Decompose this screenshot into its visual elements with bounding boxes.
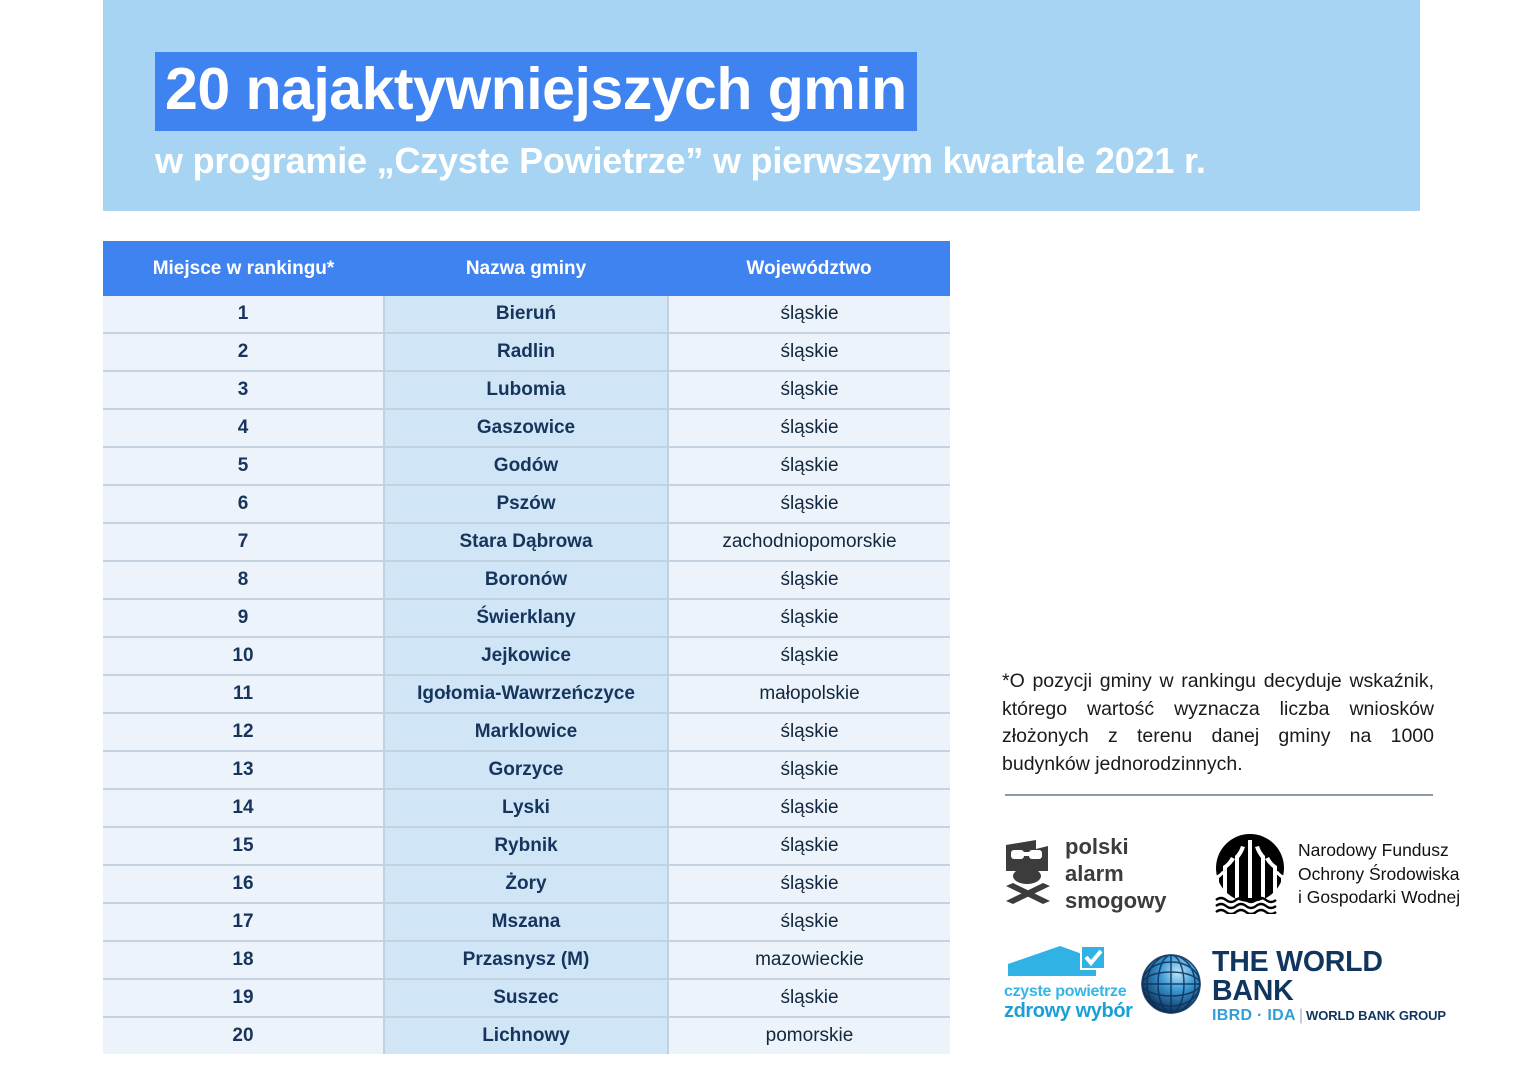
cell-name: Pszów	[384, 485, 668, 523]
polski-alarm-smogowy-label: polski alarm smogowy	[1065, 834, 1166, 914]
table-row: 4Gaszowiceśląskie	[103, 409, 950, 447]
cell-place: 7	[103, 523, 384, 561]
cell-voivodeship: śląskie	[668, 637, 950, 675]
cell-name: Jejkowice	[384, 637, 668, 675]
table-row: 13Gorzyceśląskie	[103, 751, 950, 789]
cell-voivodeship: śląskie	[668, 447, 950, 485]
cell-voivodeship: śląskie	[668, 979, 950, 1017]
cell-voivodeship: śląskie	[668, 296, 950, 333]
table-row: 12Marklowiceśląskie	[103, 713, 950, 751]
ranking-table: Miejsce w rankingu* Nazwa gminy Wojewódz…	[103, 241, 950, 1054]
nfosigw-emblem-icon	[1212, 830, 1288, 919]
czyste-powietrze-line-1: czyste powietrze	[1004, 983, 1133, 1000]
cell-place: 13	[103, 751, 384, 789]
cell-voivodeship: śląskie	[668, 371, 950, 409]
cell-voivodeship: śląskie	[668, 903, 950, 941]
smog-mask-icon	[1002, 839, 1054, 910]
world-bank-label: THE WORLD BANK IBRD · IDA|WORLD BANK GRO…	[1212, 948, 1446, 1024]
house-check-icon	[1004, 965, 1120, 982]
nfosigw-line-2: Ochrony Środowiska	[1298, 863, 1460, 886]
footnote-divider	[1005, 794, 1433, 796]
page-subtitle: w programie „Czyste Powietrze” w pierwsz…	[155, 141, 1420, 181]
table-row: 6Pszówśląskie	[103, 485, 950, 523]
column-header-place: Miejsce w rankingu*	[103, 241, 384, 296]
cell-place: 5	[103, 447, 384, 485]
cell-place: 18	[103, 941, 384, 979]
cell-voivodeship: śląskie	[668, 865, 950, 903]
table-row: 10Jejkowiceśląskie	[103, 637, 950, 675]
logo-nfosigw: Narodowy Fundusz Ochrony Środowiska i Go…	[1212, 830, 1460, 919]
cell-place: 1	[103, 296, 384, 333]
cell-voivodeship: śląskie	[668, 599, 950, 637]
nfosigw-line-3: i Gospodarki Wodnej	[1298, 886, 1460, 909]
cell-name: Rybnik	[384, 827, 668, 865]
cell-place: 12	[103, 713, 384, 751]
cell-name: Lubomia	[384, 371, 668, 409]
cell-name: Lichnowy	[384, 1017, 668, 1054]
cell-voivodeship: śląskie	[668, 827, 950, 865]
world-bank-ibrd: IBRD · IDA	[1212, 1007, 1296, 1024]
table-row: 2Radlinśląskie	[103, 333, 950, 371]
table-body: 1Bieruńśląskie2Radlinśląskie3Lubomiaśląs…	[103, 296, 950, 1054]
table-row: 1Bieruńśląskie	[103, 296, 950, 333]
cell-voivodeship: śląskie	[668, 713, 950, 751]
table-row: 18Przasnysz (M)mazowieckie	[103, 941, 950, 979]
cell-place: 10	[103, 637, 384, 675]
pas-line-1: polski	[1065, 834, 1166, 861]
table-header: Miejsce w rankingu* Nazwa gminy Wojewódz…	[103, 241, 950, 296]
cell-place: 16	[103, 865, 384, 903]
cell-voivodeship: śląskie	[668, 751, 950, 789]
globe-icon	[1140, 953, 1202, 1020]
cell-place: 9	[103, 599, 384, 637]
world-bank-separator: |	[1296, 1007, 1306, 1024]
header-band: 20 najaktywniejszych gmin w programie „C…	[103, 0, 1420, 211]
cell-name: Godów	[384, 447, 668, 485]
cell-place: 15	[103, 827, 384, 865]
cell-name: Radlin	[384, 333, 668, 371]
pas-line-2: alarm	[1065, 861, 1166, 888]
cell-voivodeship: zachodniopomorskie	[668, 523, 950, 561]
cell-name: Boronów	[384, 561, 668, 599]
cell-voivodeship: śląskie	[668, 409, 950, 447]
cell-voivodeship: małopolskie	[668, 675, 950, 713]
cell-place: 2	[103, 333, 384, 371]
table-row: 17Mszanaśląskie	[103, 903, 950, 941]
logo-world-bank: THE WORLD BANK IBRD · IDA|WORLD BANK GRO…	[1140, 948, 1446, 1024]
table-row: 11Igołomia-Wawrzeńczycemałopolskie	[103, 675, 950, 713]
cell-name: Igołomia-Wawrzeńczyce	[384, 675, 668, 713]
cell-name: Przasnysz (M)	[384, 941, 668, 979]
cell-name: Suszec	[384, 979, 668, 1017]
cell-place: 8	[103, 561, 384, 599]
logo-row-bottom: czyste powietrze zdrowy wybór	[1002, 946, 1442, 1026]
pas-line-3: smogowy	[1065, 888, 1166, 915]
nfosigw-line-1: Narodowy Fundusz	[1298, 839, 1460, 862]
cell-place: 11	[103, 675, 384, 713]
table-row: 5Godówśląskie	[103, 447, 950, 485]
table-header-row: Miejsce w rankingu* Nazwa gminy Wojewódz…	[103, 241, 950, 296]
column-header-voivodeship: Województwo	[668, 241, 950, 296]
cell-name: Gorzyce	[384, 751, 668, 789]
cell-place: 3	[103, 371, 384, 409]
logo-czyste-powietrze: czyste powietrze zdrowy wybór	[1004, 946, 1133, 1022]
cell-name: Lyski	[384, 789, 668, 827]
cell-name: Marklowice	[384, 713, 668, 751]
table-row: 15Rybnikśląskie	[103, 827, 950, 865]
logo-polski-alarm-smogowy: polski alarm smogowy	[1002, 834, 1166, 914]
cell-name: Gaszowice	[384, 409, 668, 447]
cell-name: Bieruń	[384, 296, 668, 333]
footnote-text: *O pozycji gminy w rankingu decyduje wsk…	[1002, 668, 1434, 779]
nfosigw-label: Narodowy Fundusz Ochrony Środowiska i Go…	[1298, 839, 1460, 909]
cell-place: 20	[103, 1017, 384, 1054]
page-title: 20 najaktywniejszych gmin	[155, 52, 917, 131]
cell-place: 19	[103, 979, 384, 1017]
cell-place: 14	[103, 789, 384, 827]
cell-voivodeship: mazowieckie	[668, 941, 950, 979]
table-row: 3Lubomiaśląskie	[103, 371, 950, 409]
column-header-name: Nazwa gminy	[384, 241, 668, 296]
table-row: 14Lyskiśląskie	[103, 789, 950, 827]
table-row: 7Stara Dąbrowazachodniopomorskie	[103, 523, 950, 561]
table-row: 20Lichnowypomorskie	[103, 1017, 950, 1054]
table-row: 16Żoryśląskie	[103, 865, 950, 903]
cell-voivodeship: śląskie	[668, 485, 950, 523]
cell-voivodeship: pomorskie	[668, 1017, 950, 1054]
czyste-powietrze-line-2: zdrowy wybór	[1004, 1000, 1133, 1022]
cell-place: 17	[103, 903, 384, 941]
table-row: 8Boronówśląskie	[103, 561, 950, 599]
cell-place: 6	[103, 485, 384, 523]
cell-name: Stara Dąbrowa	[384, 523, 668, 561]
logo-row-top: polski alarm smogowy	[1002, 830, 1442, 922]
cell-voivodeship: śląskie	[668, 333, 950, 371]
cell-name: Świerklany	[384, 599, 668, 637]
table-row: 9Świerklanyśląskie	[103, 599, 950, 637]
cell-voivodeship: śląskie	[668, 561, 950, 599]
title-block: 20 najaktywniejszych gmin w programie „C…	[155, 52, 1420, 181]
cell-voivodeship: śląskie	[668, 789, 950, 827]
table-row: 19Suszecśląskie	[103, 979, 950, 1017]
world-bank-title: THE WORLD BANK	[1212, 948, 1446, 1005]
world-bank-group: WORLD BANK GROUP	[1306, 1008, 1446, 1023]
cell-name: Żory	[384, 865, 668, 903]
cell-place: 4	[103, 409, 384, 447]
cell-name: Mszana	[384, 903, 668, 941]
world-bank-subtitle: IBRD · IDA|WORLD BANK GROUP	[1212, 1008, 1446, 1024]
